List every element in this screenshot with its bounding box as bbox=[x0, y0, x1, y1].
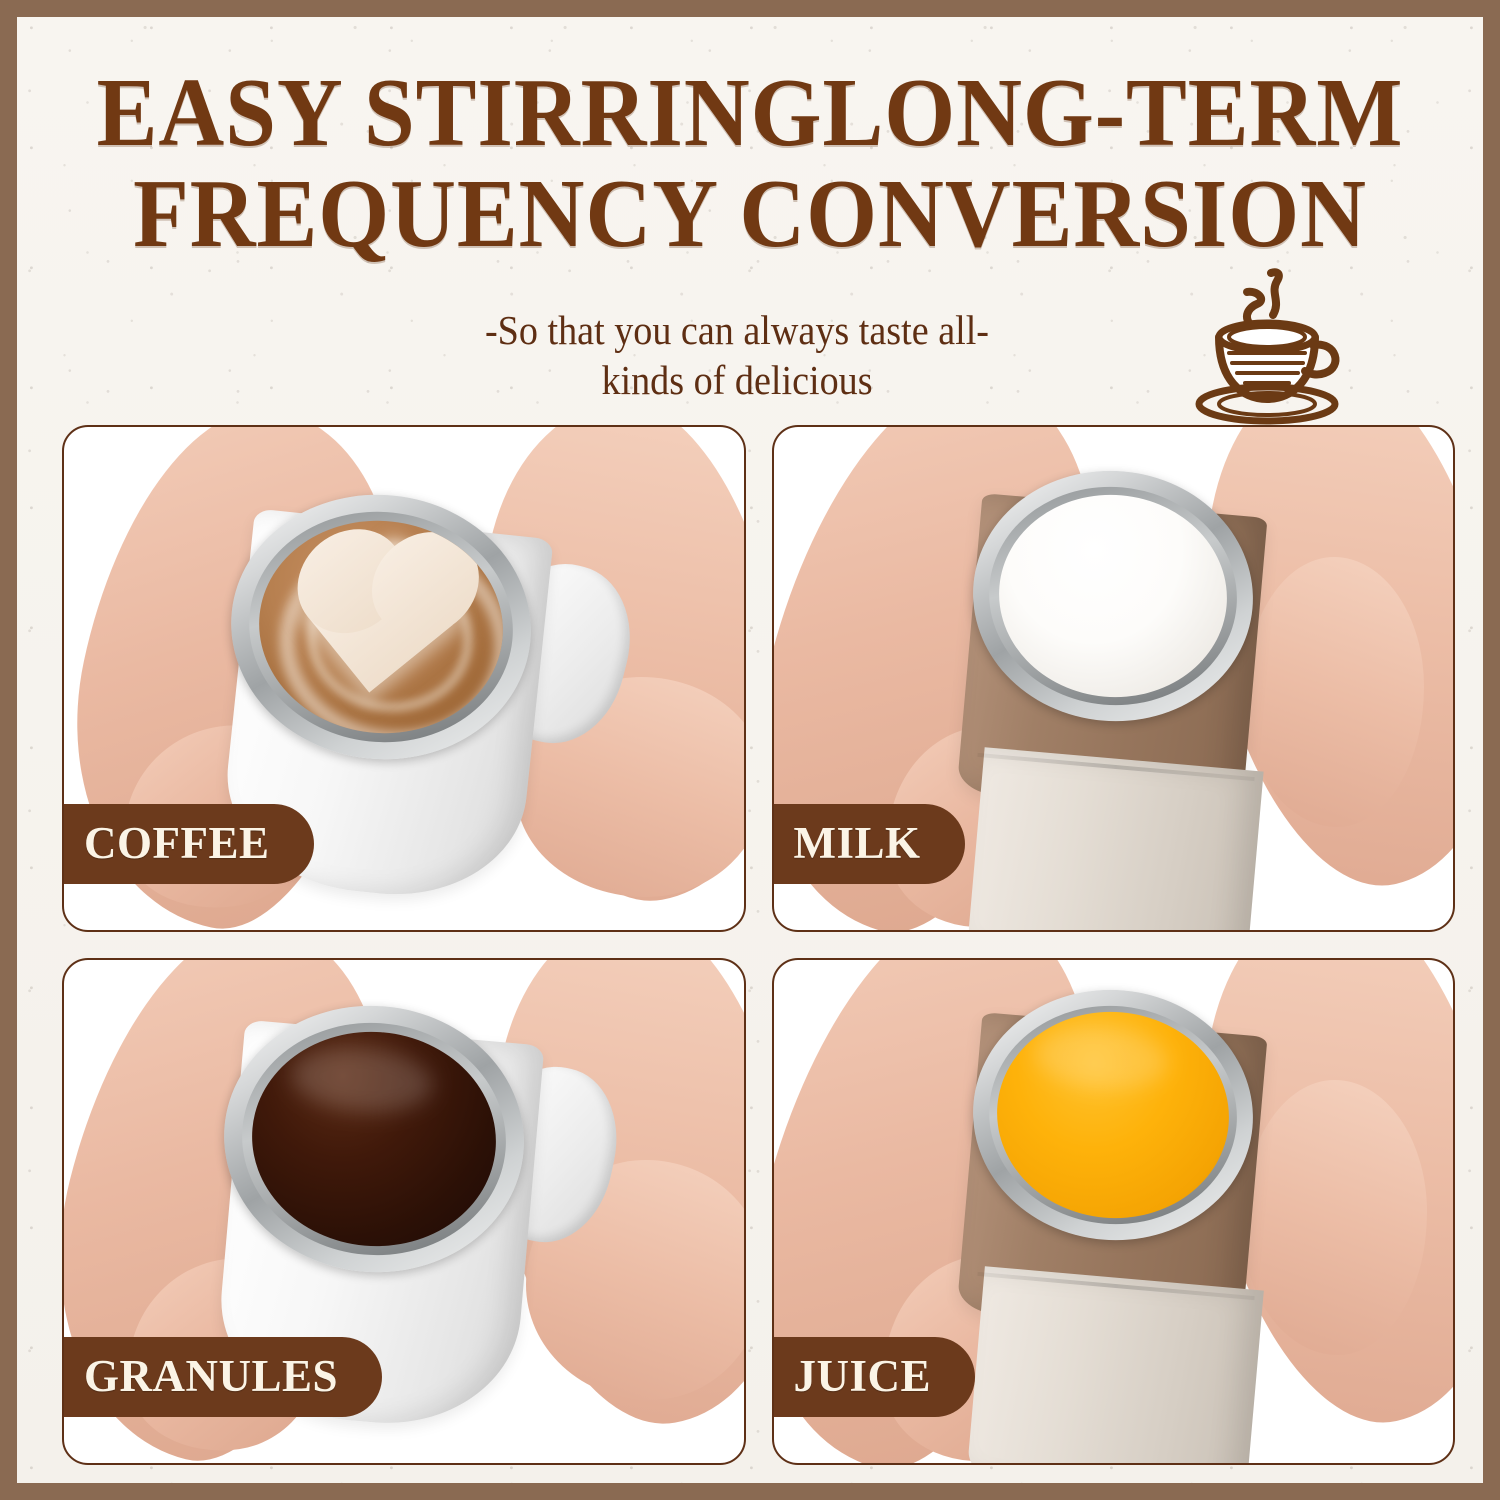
right-fingers bbox=[1242, 1080, 1427, 1355]
page-title: EASY STIRRINGLONG-TERM FREQUENCY CONVERS… bbox=[61, 63, 1439, 265]
panel-milk[interactable]: MILK bbox=[772, 425, 1456, 932]
headline-line-1: EASY STIRRINGLONG-TERM bbox=[97, 59, 1404, 166]
surface-gloss bbox=[1032, 1021, 1171, 1094]
badge-coffee: COFFEE bbox=[62, 804, 314, 884]
subtitle: -So that you can always taste all- kinds… bbox=[346, 305, 1127, 405]
tumbler-milk bbox=[963, 479, 1263, 932]
badge-milk: MILK bbox=[772, 804, 965, 884]
subtitle-line-2: kinds of delicious bbox=[601, 357, 872, 403]
tumbler-juice bbox=[963, 1002, 1263, 1465]
badge-juice: JUICE bbox=[772, 1337, 976, 1417]
headline-line-2: FREQUENCY CONVERSION bbox=[61, 164, 1439, 265]
product-usage-grid: COFFEE bbox=[62, 425, 1455, 1465]
subtitle-line-1: -So that you can always taste all- bbox=[485, 307, 989, 353]
right-fingers bbox=[1244, 557, 1424, 827]
surface-gloss bbox=[1034, 504, 1171, 576]
panel-coffee[interactable]: COFFEE bbox=[62, 425, 746, 932]
steaming-cup-icon bbox=[1185, 267, 1360, 427]
panel-juice[interactable]: JUICE bbox=[772, 958, 1456, 1465]
panel-granules[interactable]: GRANULES bbox=[62, 958, 746, 1465]
badge-granules: GRANULES bbox=[62, 1337, 382, 1417]
surface-gloss bbox=[289, 1041, 436, 1117]
poster-frame: EASY STIRRINGLONG-TERM FREQUENCY CONVERS… bbox=[0, 0, 1500, 1500]
